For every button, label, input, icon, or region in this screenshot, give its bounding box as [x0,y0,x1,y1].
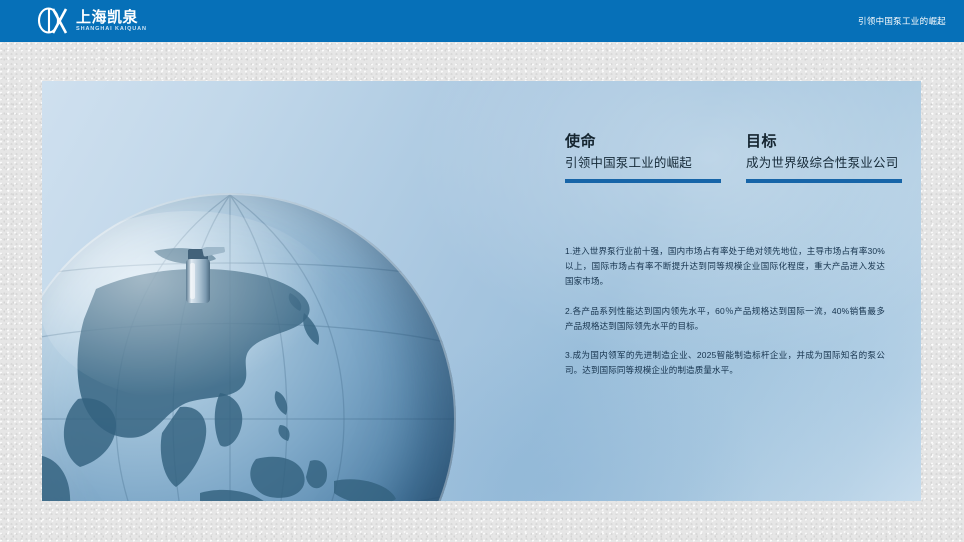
mission-title: 使命 [565,133,721,152]
brand-name-en: SHANGHAI KAIQUAN [76,27,147,33]
kq-monogram-icon [36,6,70,36]
goal-underline [746,179,902,183]
mission-column: 使命 引领中国泵工业的崛起 [565,133,721,183]
mission-underline [565,179,721,183]
brand-logo[interactable]: 上海凯泉 SHANGHAI KAIQUAN [36,5,147,37]
globe-sphere [42,193,456,501]
paragraph-3: 3.成为国内领军的先进制造企业、2025智能制造标杆企业，并成为国际知名的泵公司… [565,348,885,378]
paragraph-list: 1.进入世界泵行业前十强，国内市场占有率处于绝对领先地位，主导市场占有率30%以… [565,244,885,378]
goal-column: 目标 成为世界级综合性泵业公司 [746,133,902,183]
goal-subtitle: 成为世界级综合性泵业公司 [746,155,902,171]
mission-subtitle: 引领中国泵工业的崛起 [565,155,721,171]
app-header-bar: 上海凯泉 SHANGHAI KAIQUAN 引领中国泵工业的崛起 [0,0,964,42]
paragraph-2: 2.各产品系列性能达到国内领先水平，60％产品规格达到国际一流，40%销售最多产… [565,304,885,334]
goal-title: 目标 [746,133,902,152]
headings-row: 使命 引领中国泵工业的崛起 目标 成为世界级综合性泵业公司 [565,133,902,183]
paragraph-1: 1.进入世界泵行业前十强，国内市场占有率处于绝对领先地位，主导市场占有率30%以… [565,244,885,289]
brand-wordmark: 上海凯泉 SHANGHAI KAIQUAN [76,10,147,33]
slide-canvas: 使命 引领中国泵工业的崛起 目标 成为世界级综合性泵业公司 1.进入世界泵行业前… [42,81,921,501]
globe-continents-icon [42,193,456,501]
slide-text-content: 使命 引领中国泵工业的崛起 目标 成为世界级综合性泵业公司 1.进入世界泵行业前… [523,81,921,501]
brand-name-cn: 上海凯泉 [76,10,147,25]
globe-illustration [42,81,512,501]
header-slogan: 引领中国泵工业的崛起 [858,0,946,42]
